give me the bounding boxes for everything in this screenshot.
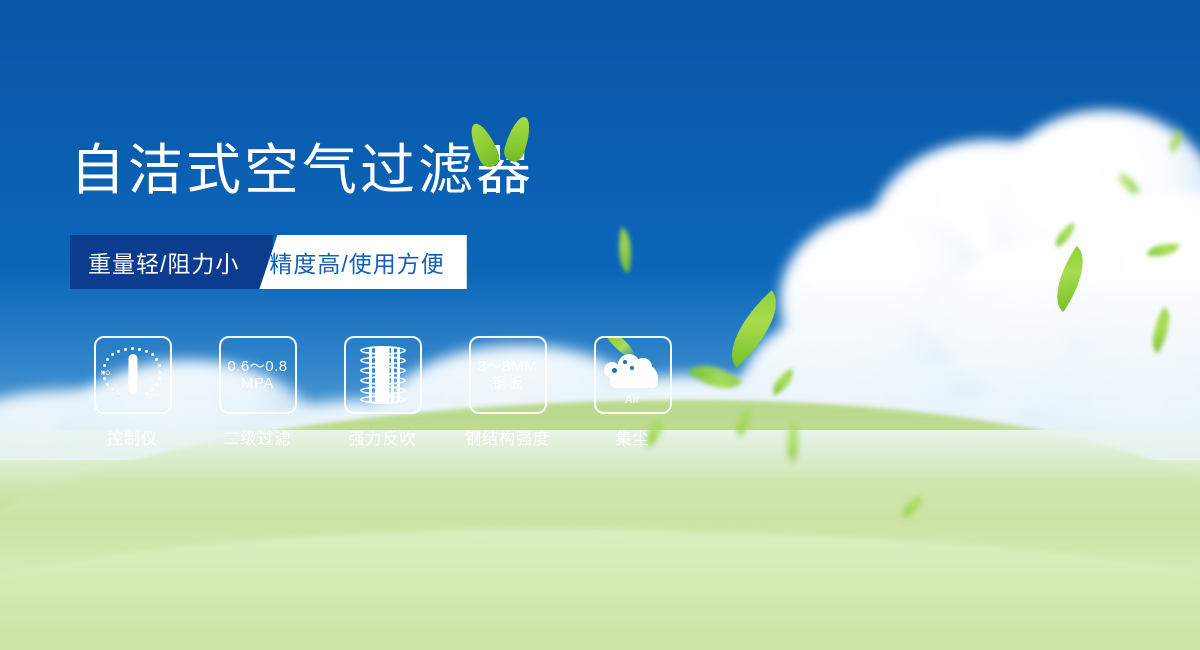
floating-leaf-icon xyxy=(688,352,742,402)
subtitle-badge: 重量轻/阻力小 精度高/使用方便 xyxy=(70,235,467,289)
cloud-air-icon: Air xyxy=(602,348,664,402)
steel-thickness-text: 3～8MM xyxy=(478,358,537,375)
floating-leaf-icon xyxy=(767,368,799,395)
pressure-range-text: 0.6～0.8 xyxy=(227,358,287,375)
feature-item-steel-strength[interactable]: 3～8MM 钢板 钢结构强度 xyxy=(445,336,570,449)
feature-label: 集尘 xyxy=(615,425,649,449)
floating-leaf-icon xyxy=(1050,222,1080,247)
feature-icon-box: Air xyxy=(594,336,672,414)
floating-leaf-icon xyxy=(613,227,636,273)
feature-icon-box: 0.6～0.8 MPA xyxy=(219,336,297,414)
gauge-on-label: NO xyxy=(101,371,111,377)
badge-left-text: 重量轻/阻力小 xyxy=(70,235,273,289)
floating-leaf-icon xyxy=(1042,246,1098,312)
feature-icon-box xyxy=(344,336,422,414)
gauge-dial-icon: NO OFF xyxy=(102,345,164,405)
floating-leaf-icon xyxy=(1142,306,1180,353)
page-title: 自洁式空气过滤器 xyxy=(70,143,534,198)
feature-label: 强力反吹 xyxy=(348,425,416,449)
feature-label: 二级过滤 xyxy=(223,425,291,449)
feature-item-back-blow[interactable]: 强力反吹 xyxy=(320,336,445,449)
floating-leaf-icon xyxy=(1164,129,1188,153)
feature-item-control-meter[interactable]: NO OFF 控制仪 xyxy=(70,336,195,449)
gauge-off-label: OFF xyxy=(148,394,162,400)
filter-stack-icon xyxy=(355,346,411,404)
floating-leaf-icon xyxy=(1118,170,1139,197)
steel-material-text: 钢板 xyxy=(492,375,523,392)
feature-item-dust-collection[interactable]: Air 集尘 xyxy=(570,336,695,449)
sprout-leaves-icon xyxy=(468,112,548,172)
floating-leaf-icon xyxy=(714,290,795,367)
feature-item-secondary-filtration[interactable]: 0.6～0.8 MPA 二级过滤 xyxy=(195,336,320,449)
feature-list: NO OFF 控制仪 0.6～0.8 MPA 二级过滤 xyxy=(70,336,695,449)
feature-label: 控制仪 xyxy=(107,425,158,449)
grass-foreground xyxy=(0,530,1200,650)
floating-leaf-icon xyxy=(1147,240,1179,261)
pressure-unit-text: MPA xyxy=(241,375,274,392)
feature-icon-box: NO OFF xyxy=(94,336,172,414)
badge-right-text: 精度高/使用方便 xyxy=(259,235,466,289)
feature-label: 钢结构强度 xyxy=(465,425,550,449)
air-label: Air xyxy=(602,394,664,406)
promo-banner: 自洁式空气过滤器 重量轻/阻力小 精度高/使用方便 xyxy=(0,0,1200,650)
feature-icon-box: 3～8MM 钢板 xyxy=(469,336,547,414)
